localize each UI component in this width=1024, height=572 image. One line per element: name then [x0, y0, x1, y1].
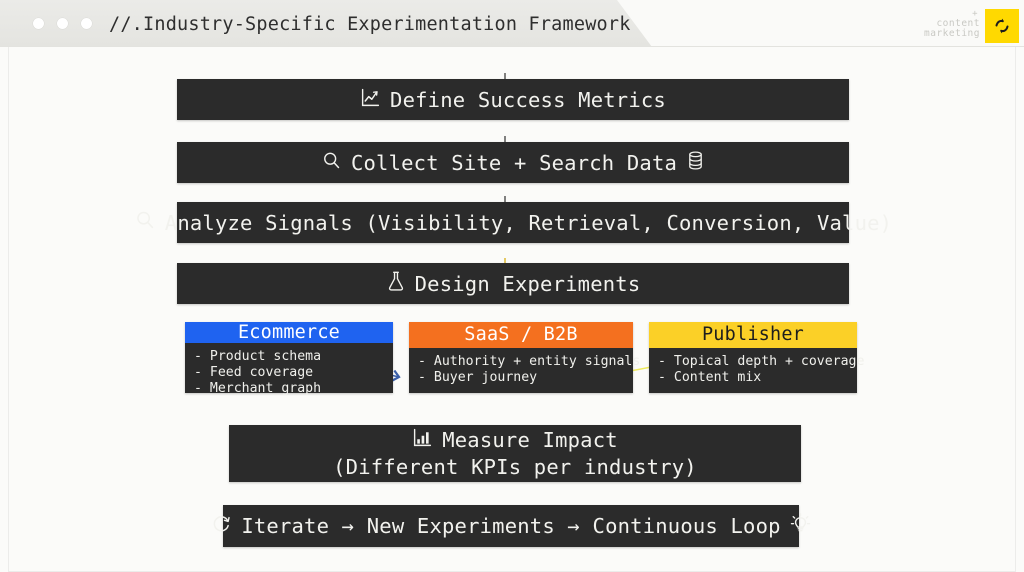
list-item: - Content mix: [658, 370, 848, 386]
list-item: - Buyer journey: [418, 370, 624, 386]
flow-step-label: Iterate → New Experiments → Continuous L…: [241, 514, 780, 538]
industry-card-bullets: - Authority + entity signals - Buyer jou…: [409, 348, 633, 393]
industry-card-ecommerce[interactable]: Ecommerce - Product schema - Feed covera…: [185, 322, 393, 393]
industry-card-bullets: - Topical depth + coverage - Content mix: [649, 348, 857, 393]
list-item: - Merchant graph: [194, 381, 384, 397]
magnifier-icon: [134, 209, 156, 236]
diagram-canvas: Define Success Metrics Collect Site + Se…: [8, 47, 1016, 572]
connector-layer: [9, 47, 1017, 572]
flow-step-label: Design Experiments: [415, 272, 641, 296]
flow-step-label: Collect Site + Search Data: [351, 151, 677, 175]
industry-card-publisher[interactable]: Publisher - Topical depth + coverage - C…: [649, 322, 857, 393]
list-item: - Authority + entity signals: [418, 354, 624, 370]
industry-card-title: Ecommerce: [185, 322, 393, 343]
flow-step-collect-data[interactable]: Collect Site + Search Data: [177, 142, 849, 183]
database-icon: [686, 150, 705, 176]
industry-card-bullets: - Product schema - Feed coverage - Merch…: [185, 343, 393, 404]
app-window: //.Industry-Specific Experimentation Fra…: [0, 0, 1024, 572]
maximize-button-icon[interactable]: [81, 18, 92, 29]
close-button-icon[interactable]: [33, 18, 44, 29]
flow-step-measure-impact[interactable]: Measure Impact (Different KPIs per indus…: [229, 425, 801, 482]
line-chart-icon: [360, 87, 381, 113]
lightbulb-icon: [790, 513, 811, 540]
magnifier-icon: [321, 150, 342, 176]
window-controls[interactable]: [33, 18, 92, 29]
list-item: - Product schema: [194, 349, 384, 365]
title-bar: //.Industry-Specific Experimentation Fra…: [0, 0, 1024, 47]
list-item: - Topical depth + coverage: [658, 354, 848, 370]
flow-step-label: Define Success Metrics: [390, 88, 666, 112]
flow-step-design-experiments[interactable]: Design Experiments: [177, 263, 849, 304]
list-item: - Feed coverage: [194, 365, 384, 381]
flow-step-analyze-signals[interactable]: Analyze Signals (Visibility, Retrieval, …: [177, 202, 849, 243]
flow-step-define-success-metrics[interactable]: Define Success Metrics: [177, 79, 849, 120]
brand-logo-mark[interactable]: [985, 9, 1019, 43]
window-title: //.Industry-Specific Experimentation Fra…: [109, 14, 631, 35]
flow-step-iterate-loop[interactable]: Iterate → New Experiments → Continuous L…: [223, 505, 799, 547]
minimize-button-icon[interactable]: [57, 18, 68, 29]
flask-icon: [386, 270, 406, 297]
industry-card-saas-b2b[interactable]: SaaS / B2B - Authority + entity signals …: [409, 322, 633, 393]
flow-step-sublabel: (Different KPIs per industry): [333, 454, 697, 480]
brand-line-marketing: marketing: [890, 29, 980, 39]
flow-step-label: Analyze Signals (Visibility, Retrieval, …: [165, 211, 892, 235]
brand-wordmark: + content marketing: [890, 10, 980, 39]
industry-card-title: Publisher: [649, 322, 857, 348]
swoosh-arrow-icon: [992, 16, 1012, 36]
refresh-loop-icon: [211, 513, 232, 539]
industry-card-title: SaaS / B2B: [409, 322, 633, 348]
bar-chart-icon: [412, 427, 433, 454]
flow-step-label: Measure Impact: [442, 427, 618, 453]
